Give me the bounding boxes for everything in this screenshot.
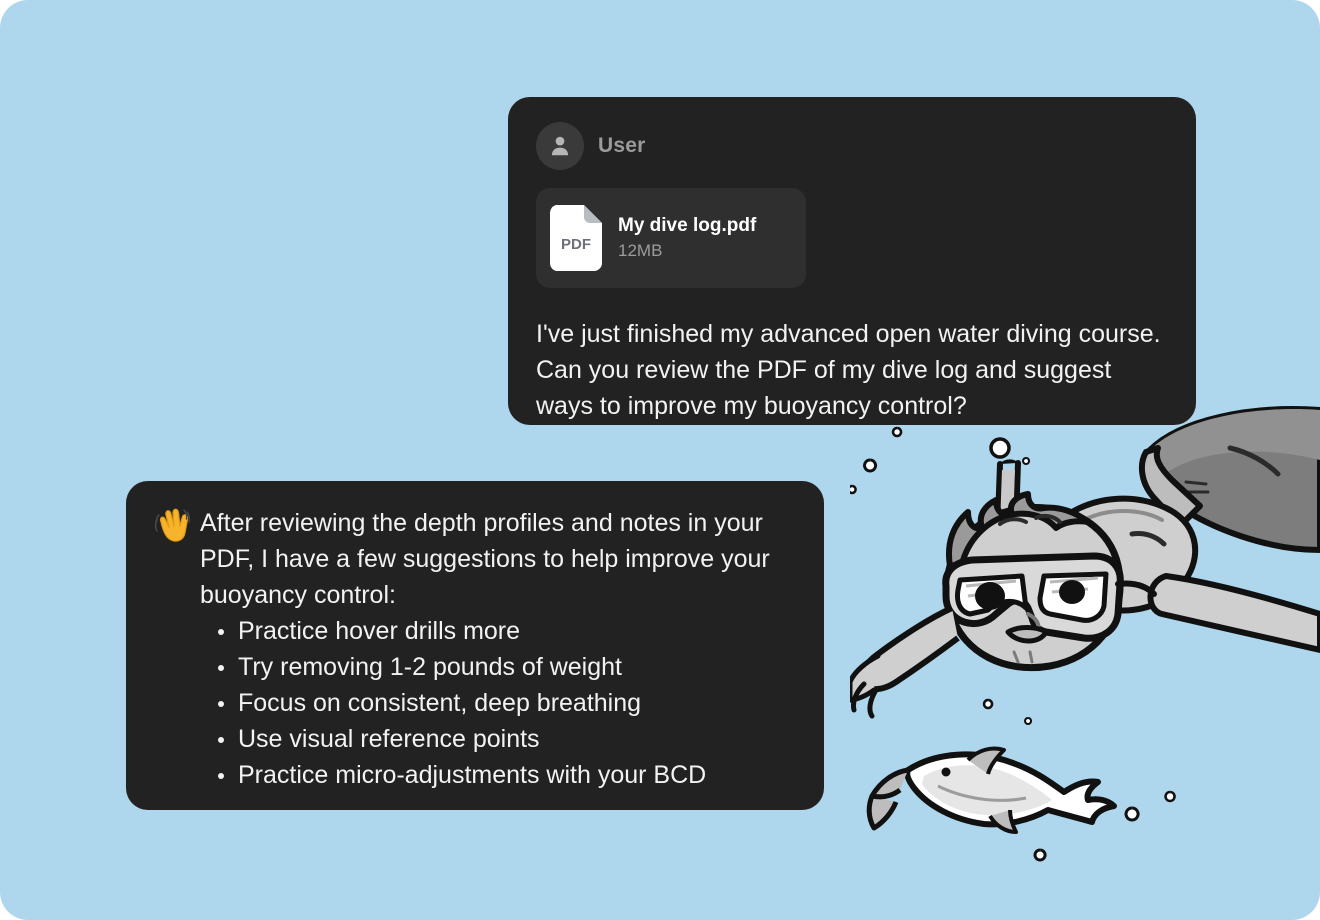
dive-mask-icon <box>946 556 1154 638</box>
diver-face-icon <box>1008 614 1046 662</box>
user-message-header: User <box>536 119 1168 173</box>
fish-icon <box>869 748 1114 832</box>
assistant-intro-text: After reviewing the depth profiles and n… <box>200 505 798 613</box>
snorkel-tube-icon <box>996 459 1032 648</box>
user-name-label: User <box>598 134 646 158</box>
snorkeler-illustration <box>850 400 1320 920</box>
app-canvas: User PDF My dive log.pdf 12MB I've just … <box>0 0 1320 920</box>
list-item: Focus on consistent, deep breathing <box>200 685 798 721</box>
file-name-label: My dive log.pdf <box>618 215 756 237</box>
list-item: Practice hover drills more <box>200 613 798 649</box>
pdf-file-icon: PDF <box>550 205 602 271</box>
file-meta: My dive log.pdf 12MB <box>618 215 756 261</box>
user-message-bubble: User PDF My dive log.pdf 12MB I've just … <box>508 97 1196 425</box>
diver-torso-icon <box>1060 499 1195 611</box>
lower-bubbles-icon <box>984 700 1175 860</box>
wetsuit-sleeve-icon <box>1142 409 1320 550</box>
list-item: Try removing 1-2 pounds of weight <box>200 649 798 685</box>
diver-right-arm-icon <box>1150 576 1320 650</box>
svg-text:PDF: PDF <box>561 236 591 253</box>
assistant-suggestion-list: Practice hover drills more Try removing … <box>200 613 798 793</box>
list-item: Practice micro-adjustments with your BCD <box>200 757 798 793</box>
diver-head-icon <box>947 494 1120 668</box>
file-size-label: 12MB <box>618 241 756 261</box>
user-avatar-icon <box>536 122 584 170</box>
user-message-text: I've just finished my advanced open wate… <box>536 316 1168 424</box>
list-item: Use visual reference points <box>200 721 798 757</box>
diver-left-arm-icon <box>850 608 958 716</box>
waving-hand-icon <box>154 506 190 544</box>
assistant-message-bubble: After reviewing the depth profiles and n… <box>126 481 824 810</box>
file-attachment-card[interactable]: PDF My dive log.pdf 12MB <box>536 188 806 288</box>
